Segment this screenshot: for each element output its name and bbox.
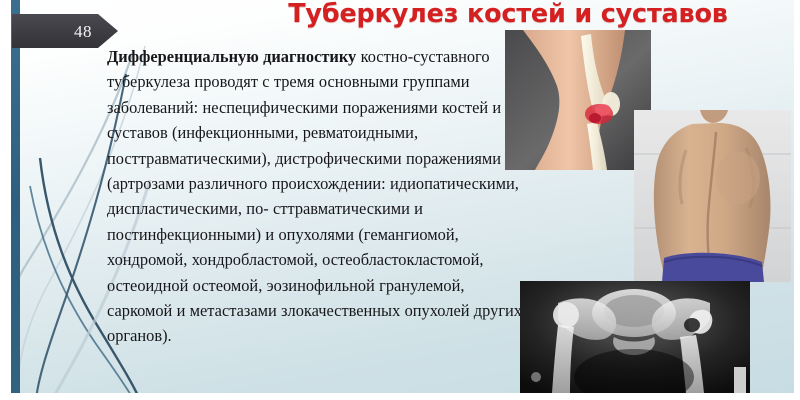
body-paragraph: Дифференциальную диагностику костно-суст… [107,44,527,349]
bottom-margin [0,393,800,400]
right-margin [794,0,800,400]
image-patient-back-photo [634,110,791,282]
body-rest-text: костно-суставного туберкулеза проводят с… [107,47,522,345]
left-margin [0,0,11,400]
image-pelvis-hip-xray [520,281,750,393]
slide: 48 Туберкулез костей и суставов Дифферен… [0,0,800,400]
slide-number-label: 48 [74,23,92,40]
page-title: Туберкулез костей и суставов [228,0,788,29]
image-knee-joint-anatomy [505,30,651,170]
left-accent-bar [11,0,20,400]
slide-number-badge: 48 [12,14,118,48]
body-lead-bold: Дифференциальную диагностику [107,47,356,66]
